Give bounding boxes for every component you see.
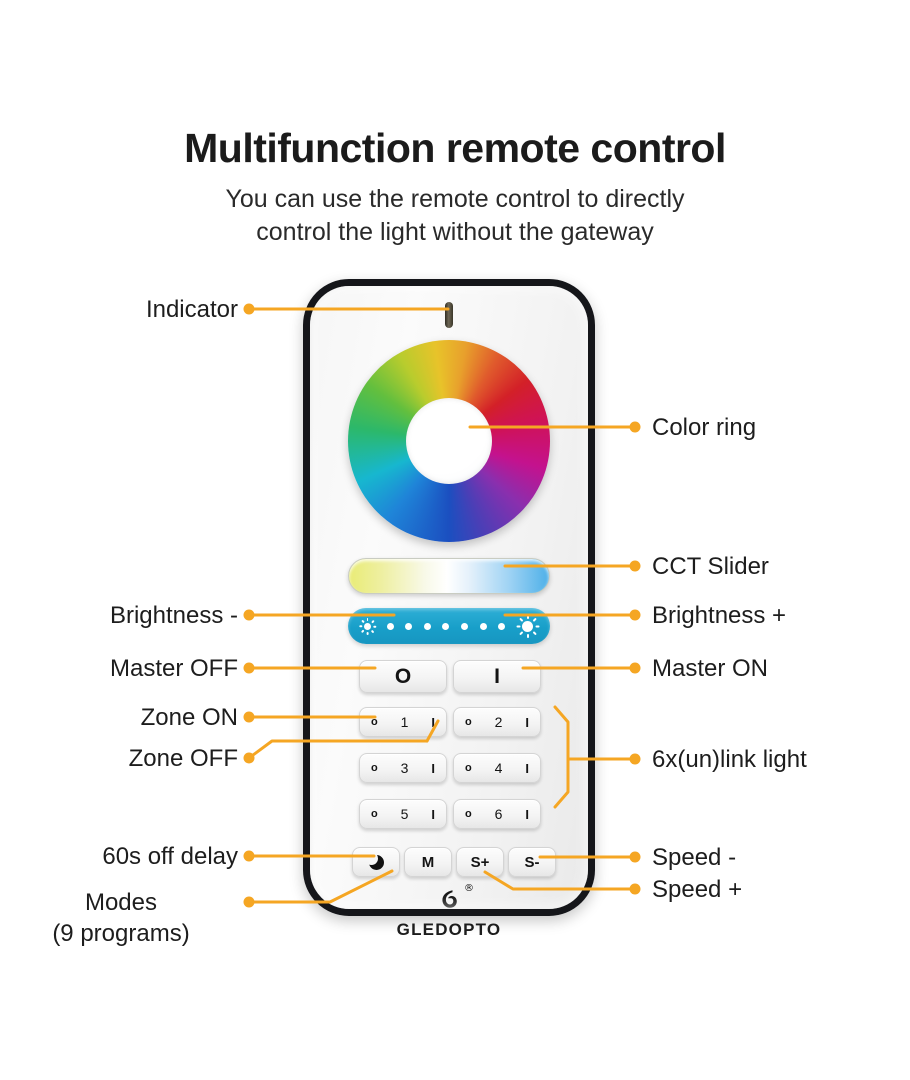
mode-button-label: M bbox=[422, 854, 435, 871]
zone-off-glyph[interactable]: o bbox=[465, 762, 472, 774]
brightness-slider[interactable] bbox=[348, 608, 550, 644]
label-speed-minus: Speed - bbox=[652, 844, 736, 872]
label-zone-on: Zone ON bbox=[0, 704, 238, 732]
speed-down-label: S- bbox=[525, 854, 540, 871]
zone-on-glyph[interactable]: I bbox=[525, 807, 529, 822]
label-color-ring: Color ring bbox=[652, 414, 756, 442]
mode-button[interactable]: M bbox=[404, 847, 452, 877]
leader-dot-modes bbox=[244, 897, 255, 908]
zone-on-glyph[interactable]: I bbox=[525, 761, 529, 776]
zone-5-button[interactable]: o 5 I bbox=[359, 799, 447, 829]
leader-dot-speed-minus bbox=[630, 852, 641, 863]
label-modes-sub: (9 programs) bbox=[0, 920, 242, 948]
speed-up-label: S+ bbox=[471, 854, 490, 871]
leader-dot-master-on bbox=[630, 663, 641, 674]
page-subtitle: You can use the remote control to direct… bbox=[0, 169, 910, 249]
moon-icon bbox=[369, 855, 384, 870]
leader-dot-zone-off bbox=[244, 753, 255, 764]
label-brightness-minus: Brightness - bbox=[0, 602, 238, 630]
brightness-dot[interactable] bbox=[498, 623, 505, 630]
power-on-glyph: I bbox=[494, 666, 500, 687]
leader-dot-brightness-minus bbox=[244, 610, 255, 621]
label-cct-slider: CCT Slider bbox=[652, 553, 769, 581]
leader-dot-zone-on bbox=[244, 712, 255, 723]
zone-number: 6 bbox=[495, 806, 503, 822]
zone-2-button[interactable]: o 2 I bbox=[453, 707, 541, 737]
zone-on-glyph[interactable]: I bbox=[431, 715, 435, 730]
page-title: Multifunction remote control bbox=[0, 0, 910, 169]
brightness-high-sun-icon bbox=[516, 615, 539, 638]
zone-4-button[interactable]: o 4 I bbox=[453, 753, 541, 783]
zone-on-glyph[interactable]: I bbox=[431, 761, 435, 776]
zone-off-glyph[interactable]: o bbox=[371, 762, 378, 774]
label-master-on: Master ON bbox=[652, 655, 768, 683]
label-speed-plus: Speed + bbox=[652, 876, 742, 904]
page-subtitle-line-1: You can use the remote control to direct… bbox=[225, 185, 684, 213]
leader-dot-off-delay bbox=[244, 851, 255, 862]
brightness-dot[interactable] bbox=[442, 623, 449, 630]
gledopto-logo-icon: ® bbox=[436, 886, 462, 916]
zone-off-glyph[interactable]: o bbox=[465, 808, 472, 820]
zone-3-button[interactable]: o 3 I bbox=[359, 753, 447, 783]
leader-dot-cct-slider bbox=[630, 561, 641, 572]
label-master-off: Master OFF bbox=[0, 655, 238, 683]
brightness-dot[interactable] bbox=[480, 623, 487, 630]
brightness-dot[interactable] bbox=[387, 623, 394, 630]
brand-name: GLEDOPTO bbox=[310, 920, 588, 940]
leader-dot-speed-plus bbox=[630, 884, 641, 895]
registered-trademark-symbol: ® bbox=[464, 884, 474, 894]
master-on-button[interactable]: I bbox=[453, 660, 541, 693]
off-delay-button[interactable] bbox=[352, 847, 400, 877]
zone-off-glyph[interactable]: o bbox=[371, 716, 378, 728]
color-ring-gradient[interactable] bbox=[348, 340, 550, 542]
header: Multifunction remote control You can use… bbox=[0, 0, 910, 249]
brightness-dot[interactable] bbox=[405, 623, 412, 630]
status-indicator-led bbox=[445, 302, 453, 328]
zone-on-glyph[interactable]: I bbox=[525, 715, 529, 730]
zone-number: 2 bbox=[495, 714, 503, 730]
brightness-dot[interactable] bbox=[424, 623, 431, 630]
zone-off-glyph[interactable]: o bbox=[465, 716, 472, 728]
leader-dot-brightness-plus bbox=[630, 610, 641, 621]
brand-block: ® GLEDOPTO bbox=[310, 886, 588, 940]
zone-number: 5 bbox=[401, 806, 409, 822]
label-modes: Modes bbox=[0, 889, 242, 917]
leader-dot-unlink bbox=[630, 754, 641, 765]
remote-control-body: O I o 1 I o 2 I o 3 I o 4 I o 5 I o 6 I … bbox=[303, 279, 595, 916]
cct-slider[interactable] bbox=[348, 558, 550, 594]
color-ring[interactable] bbox=[348, 340, 550, 542]
label-unlink: 6x(un)link light bbox=[652, 746, 807, 774]
zone-1-button[interactable]: o 1 I bbox=[359, 707, 447, 737]
master-off-button[interactable]: O bbox=[359, 660, 447, 693]
brightness-low-sun-icon bbox=[359, 618, 376, 635]
zone-number: 3 bbox=[401, 760, 409, 776]
page-subtitle-line-2: control the light without the gateway bbox=[256, 218, 653, 246]
power-off-glyph: O bbox=[395, 666, 411, 687]
leader-dot-indicator bbox=[244, 304, 255, 315]
brightness-dot[interactable] bbox=[461, 623, 468, 630]
zone-on-glyph[interactable]: I bbox=[431, 807, 435, 822]
label-brightness-plus: Brightness + bbox=[652, 602, 786, 630]
leader-dot-master-off bbox=[244, 663, 255, 674]
label-zone-off: Zone OFF bbox=[0, 745, 238, 773]
label-indicator: Indicator bbox=[0, 296, 238, 324]
zone-off-glyph[interactable]: o bbox=[371, 808, 378, 820]
label-off-delay: 60s off delay bbox=[0, 843, 238, 871]
speed-up-button[interactable]: S+ bbox=[456, 847, 504, 877]
leader-dot-color-ring bbox=[630, 422, 641, 433]
brightness-level-dots[interactable] bbox=[376, 623, 516, 630]
zone-6-button[interactable]: o 6 I bbox=[453, 799, 541, 829]
zone-number: 1 bbox=[401, 714, 409, 730]
speed-down-button[interactable]: S- bbox=[508, 847, 556, 877]
zone-number: 4 bbox=[495, 760, 503, 776]
